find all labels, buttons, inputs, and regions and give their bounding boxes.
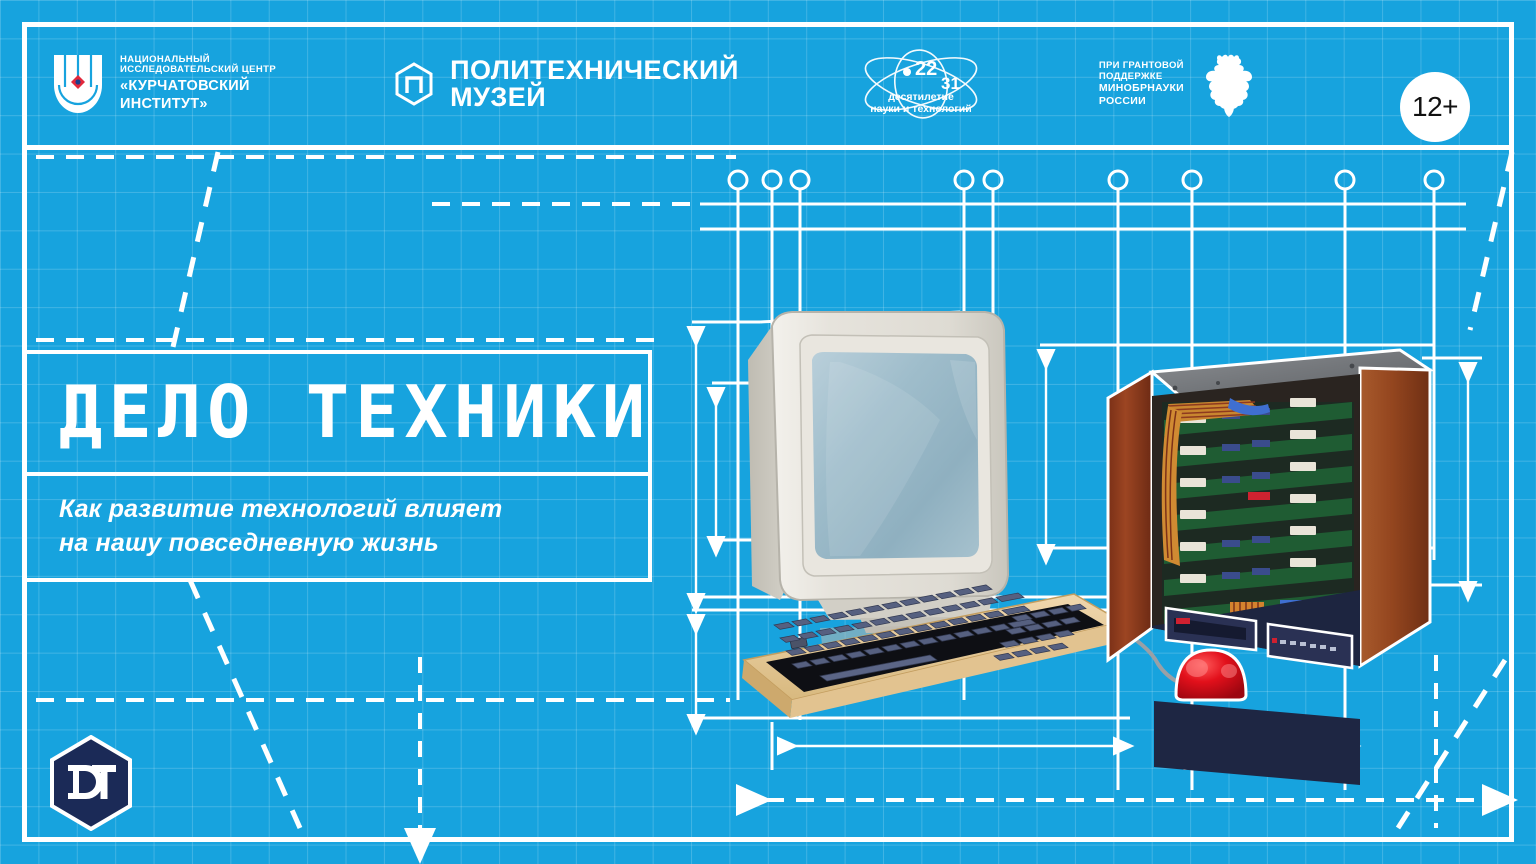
kurchatov-line2: ИССЛЕДОВАТЕЛЬСКИЙ ЦЕНТР xyxy=(120,65,276,76)
red-dome-mouse xyxy=(1176,650,1246,700)
subtitle-line-2: на нашу повседневную жизнь xyxy=(59,526,648,560)
decade-line2: науки и технологий xyxy=(870,103,971,115)
age-rating-badge: 12+ xyxy=(1400,72,1470,142)
dt-hexagon-logo[interactable] xyxy=(48,735,134,831)
ministry-line4: РОССИИ xyxy=(1099,95,1184,108)
vintage-crt-monitor xyxy=(748,312,1008,644)
kurchatov-line4: ИНСТИТУТ» xyxy=(120,96,276,112)
title-block: ДЕЛО ТЕХНИКИ Как развитие технологий вли… xyxy=(27,350,652,582)
ministry-line2: ПОДДЕРЖКЕ xyxy=(1099,71,1184,82)
russian-double-eagle-emblem xyxy=(1200,51,1258,117)
logo-decade-of-science[interactable]: 22 31 десятилетие науки и технологий xyxy=(851,22,991,145)
subtitle-line-1: Как развитие технологий влияет xyxy=(59,492,648,526)
kurchatov-institute-logo xyxy=(50,53,106,115)
page-title: ДЕЛО ТЕХНИКИ xyxy=(59,376,648,448)
subtitle-container: Как развитие технологий влияет на нашу п… xyxy=(27,476,652,582)
logo-ministry-support[interactable]: ПРИ ГРАНТОВОЙ ПОДДЕРЖКЕ МИНОБРНАУКИ РОСС… xyxy=(1099,22,1258,145)
poster-header: НАЦИОНАЛЬНЫЙ ИССЛЕДОВАТЕЛЬСКИЙ ЦЕНТР «КУ… xyxy=(22,22,1514,145)
logo-kurchatov-institute[interactable]: НАЦИОНАЛЬНЫЙ ИССЛЕДОВАТЕЛЬСКИЙ ЦЕНТР «КУ… xyxy=(50,22,276,145)
vintage-wooden-computer-chassis xyxy=(1108,350,1430,785)
polytech-museum-logo xyxy=(392,62,436,106)
decade-of-science-logo: 22 31 десятилетие науки и технологий xyxy=(851,47,991,121)
decade-year-from: 22 xyxy=(915,58,937,80)
ministry-line3: МИНОБРНАУКИ xyxy=(1099,82,1184,95)
ministry-line1: ПРИ ГРАНТОВОЙ xyxy=(1099,60,1184,71)
header-divider xyxy=(27,145,1509,150)
polytech-line2: МУЗЕЙ xyxy=(450,84,739,110)
logo-polytech-museum[interactable]: ПОЛИТЕХНИЧЕСКИЙ МУЗЕЙ xyxy=(392,22,739,145)
poster-canvas: НАЦИОНАЛЬНЫЙ ИССЛЕДОВАТЕЛЬСКИЙ ЦЕНТР «КУ… xyxy=(0,0,1536,864)
polytech-line1: ПОЛИТЕХНИЧЕСКИЙ xyxy=(450,57,739,83)
decade-line1: десятилетие xyxy=(888,91,954,103)
kurchatov-line3: «КУРЧАТОВСКИЙ xyxy=(120,78,276,94)
title-container: ДЕЛО ТЕХНИКИ xyxy=(27,350,652,476)
